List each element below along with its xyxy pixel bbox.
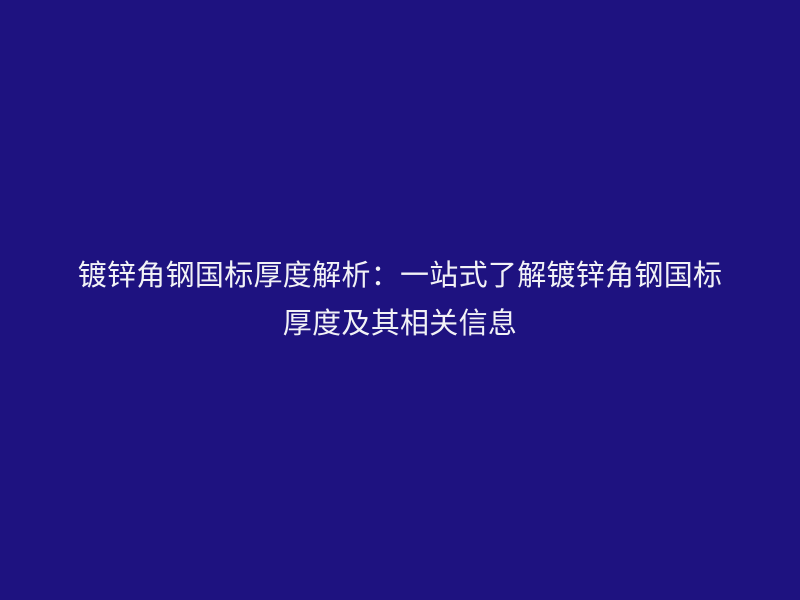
page-title: 镀锌角钢国标厚度解析：一站式了解镀锌角钢国标 厚度及其相关信息 [50, 252, 750, 348]
title-card: 镀锌角钢国标厚度解析：一站式了解镀锌角钢国标 厚度及其相关信息 [0, 0, 800, 600]
